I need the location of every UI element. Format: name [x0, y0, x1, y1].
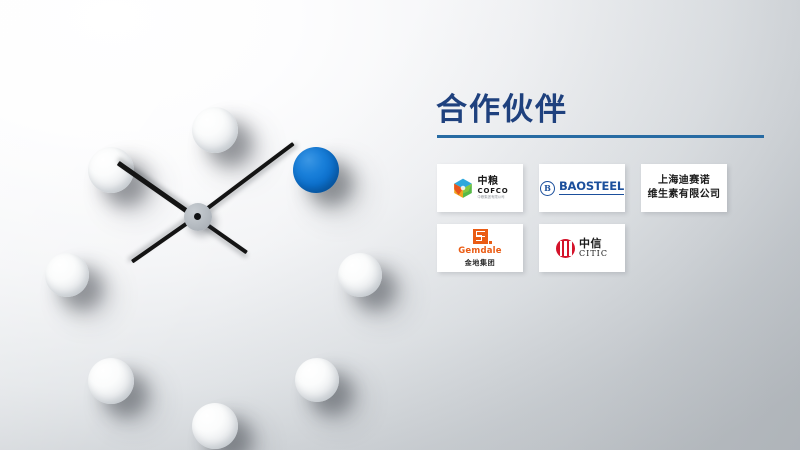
clock-marker-12	[192, 107, 238, 153]
partner-card-baosteel[interactable]: B BAOSTEEL	[539, 164, 625, 212]
baosteel-mark-letter: B	[544, 184, 551, 192]
partner-card-gemdale[interactable]: Gemdale 金地集团	[437, 224, 523, 272]
clock-minute-hand	[195, 142, 295, 219]
disino-line2: 维生素有限公司	[648, 188, 721, 203]
clock-marker-4	[295, 358, 339, 402]
wall-clock	[20, 45, 380, 405]
partner-card-citic[interactable]: 中信 CITIC	[539, 224, 625, 272]
partner-card-disino[interactable]: 上海迪赛诺 维生素有限公司	[641, 164, 727, 212]
gemdale-square-icon	[473, 229, 488, 244]
citic-name-en: CITIC	[579, 250, 608, 258]
cofco-cube-icon	[452, 177, 474, 199]
gemdale-name-en: Gemdale	[458, 246, 502, 256]
title-underline	[437, 135, 764, 138]
citic-name-cn: 中信	[579, 238, 608, 249]
clock-marker-8	[45, 253, 89, 297]
partner-card-cofco[interactable]: 中粮 COFCO 中粮集团有限公司	[437, 164, 523, 212]
baosteel-circle-icon: B	[540, 181, 555, 196]
clock-marker-1-highlight	[293, 147, 339, 193]
clock-marker-5	[192, 403, 238, 449]
page-title: 合作伙伴	[436, 95, 775, 126]
baosteel-name-en: BAOSTEEL	[559, 181, 624, 195]
cofco-tagline: 中粮集团有限公司	[478, 196, 509, 199]
gemdale-name-cn: 金地集团	[465, 258, 495, 268]
clock-marker-2	[338, 253, 382, 297]
gemdale-dot-icon	[489, 241, 492, 244]
clock-hub-cap	[194, 213, 201, 220]
disino-line1: 上海迪赛诺	[648, 174, 721, 189]
cofco-name-en: COFCO	[478, 188, 509, 195]
citic-seal-icon	[556, 239, 575, 258]
cofco-name-cn: 中粮	[478, 177, 509, 187]
clock-marker-7	[88, 358, 134, 404]
partner-logo-grid: 中粮 COFCO 中粮集团有限公司 B BAOSTEEL 上海	[437, 164, 777, 272]
partners-panel: 合作伙伴 中粮 COFCO	[430, 95, 775, 272]
slide-canvas: 合作伙伴 中粮 COFCO	[0, 0, 800, 450]
